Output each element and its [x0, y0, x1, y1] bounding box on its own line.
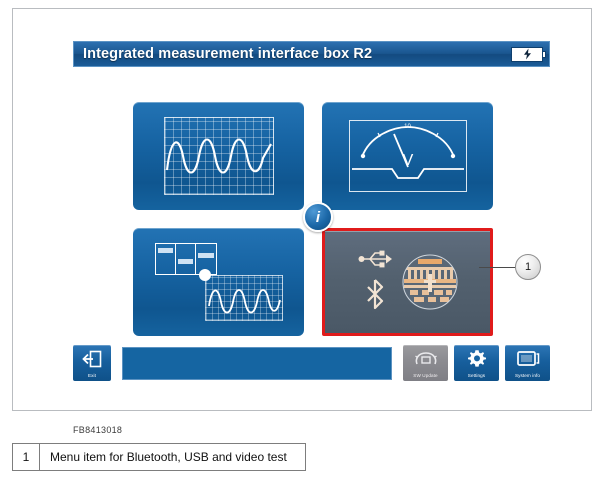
page-title: Integrated measurement interface box R2: [83, 46, 372, 62]
monitor-icon: [505, 345, 550, 373]
exit-button-label: Exit: [88, 373, 96, 379]
mini-waveform-icon: [205, 275, 283, 321]
tile-bluetooth-usb-video[interactable]: [322, 228, 493, 336]
figure-frame: Integrated measurement interface box R2: [12, 8, 592, 411]
titlebar: Integrated measurement interface box R2: [73, 41, 550, 67]
device-screen: Integrated measurement interface box R2: [59, 27, 561, 397]
analog-voltmeter-icon: 10 V: [349, 120, 467, 192]
settings-button[interactable]: Settings: [454, 345, 499, 381]
legend-number: 1: [13, 444, 40, 471]
usb-icon: [358, 249, 392, 274]
bluetooth-icon: [364, 278, 386, 315]
table-with-waveform-icon: [153, 241, 285, 323]
figure-id: FB8413018: [73, 425, 122, 435]
svg-text:V: V: [402, 152, 413, 169]
sw-update-icon: [403, 345, 448, 373]
legend-table: 1 Menu item for Bluetooth, USB and video…: [12, 443, 306, 471]
battery-charging-icon: [511, 47, 543, 62]
bluetooth-usb-video-icons: [358, 249, 458, 315]
tile-multimeter[interactable]: 10 V: [322, 102, 493, 210]
exit-button[interactable]: Exit: [73, 345, 111, 381]
gear-icon: [454, 345, 499, 373]
info-button-label: i: [316, 209, 320, 226]
callout-marker-label: 1: [525, 261, 531, 273]
bottom-toolbar: Exit SW Update: [73, 343, 550, 383]
tile-oscilloscope[interactable]: [133, 102, 304, 210]
callout-marker-1: 1: [515, 254, 541, 280]
exit-icon: [73, 345, 111, 373]
system-info-button-label: System info: [515, 373, 540, 379]
tile-grid: 10 V: [133, 102, 493, 337]
settings-button-label: Settings: [468, 373, 485, 379]
tile-guided-measurement[interactable]: [133, 228, 304, 336]
legend-description: Menu item for Bluetooth, USB and video t…: [40, 444, 306, 471]
sw-update-button-label: SW Update: [413, 373, 437, 379]
system-info-button[interactable]: System info: [505, 345, 550, 381]
sw-update-button[interactable]: SW Update: [403, 345, 448, 381]
info-icon[interactable]: i: [303, 202, 333, 232]
status-bar: [122, 347, 392, 380]
callout-leader-line: [479, 267, 519, 268]
video-test-pattern-icon: [402, 254, 458, 310]
table-row: 1 Menu item for Bluetooth, USB and video…: [13, 444, 306, 471]
oscilloscope-waveform-icon: [164, 117, 274, 195]
figure-page: Integrated measurement interface box R2: [0, 0, 608, 495]
